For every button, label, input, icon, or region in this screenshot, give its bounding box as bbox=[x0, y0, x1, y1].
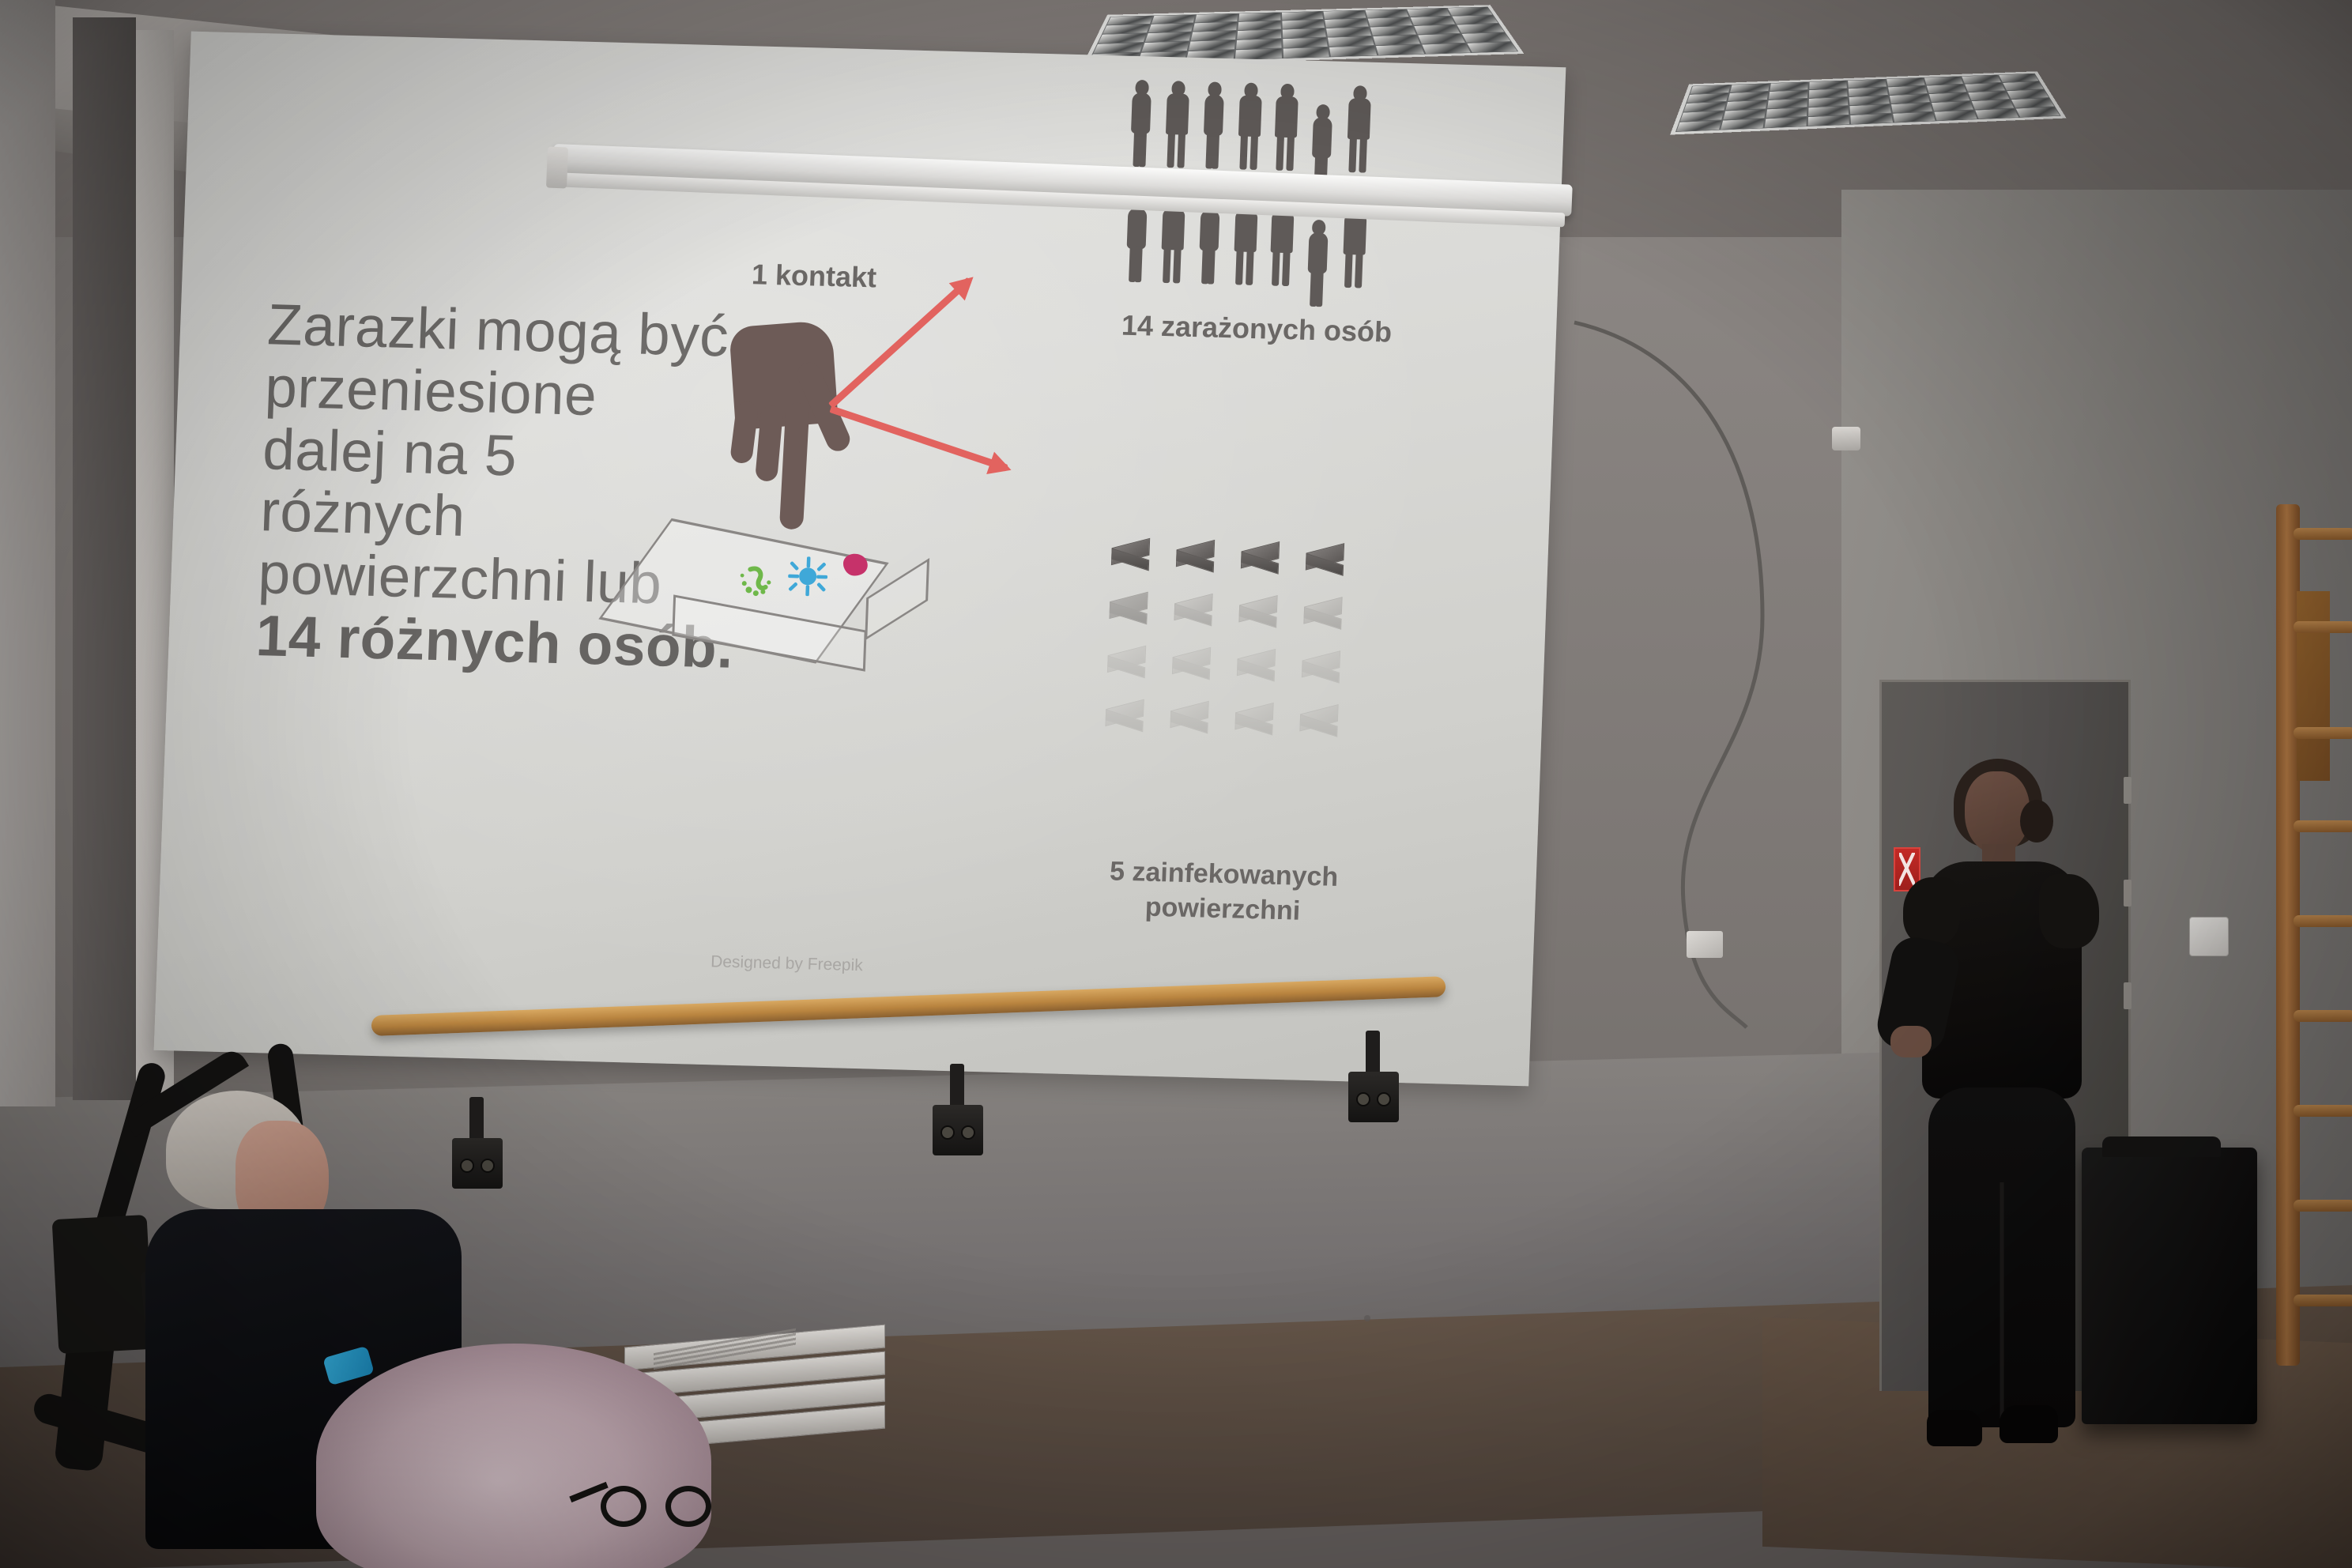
wall-sensor bbox=[1832, 427, 1860, 450]
light-switch[interactable] bbox=[2189, 917, 2229, 956]
wall-column-shadow bbox=[73, 17, 136, 1100]
presenter-legs bbox=[1928, 1087, 2075, 1427]
screen-bracket-left bbox=[546, 146, 568, 188]
person-icon bbox=[1271, 84, 1302, 183]
wall-mark bbox=[1364, 1315, 1370, 1321]
surface-icon-clock bbox=[1232, 586, 1292, 635]
wall-column-light bbox=[0, 0, 55, 1106]
presenter-shoulder-right bbox=[2039, 874, 2099, 948]
surface-icon-board bbox=[1234, 533, 1294, 582]
surface-icon-table bbox=[1167, 585, 1227, 634]
surface-icon-workstation bbox=[1163, 692, 1223, 741]
label-infected-people: 14 zarażonych osób bbox=[1121, 309, 1393, 349]
presenter-head bbox=[1965, 771, 2030, 854]
label-one-contact: 1 kontakt bbox=[751, 258, 877, 294]
label-surfaces-line2: powierzchni bbox=[1091, 888, 1354, 930]
person-icon bbox=[1162, 81, 1193, 179]
glasses-icon bbox=[601, 1478, 711, 1541]
presenter-hair-bun bbox=[2020, 800, 2053, 842]
surface-icon-plant bbox=[1165, 639, 1225, 688]
person-icon bbox=[1307, 104, 1337, 183]
surface-icon-podium bbox=[1293, 695, 1353, 744]
presenter-hand bbox=[1890, 1026, 1932, 1057]
label-surfaces-line1: 5 zainfekowanych bbox=[1093, 854, 1355, 895]
surface-icon-rail bbox=[1102, 583, 1163, 632]
surface-icon-grid bbox=[1099, 530, 1359, 744]
surface-icon-lamp bbox=[1228, 694, 1288, 743]
wall-socket-plate bbox=[1687, 931, 1723, 958]
hanging-cable bbox=[1565, 300, 1897, 1091]
presenter-shoulder-left bbox=[1903, 877, 1960, 945]
slide-credit: Designed by Freepik bbox=[710, 952, 863, 975]
person-icon bbox=[1344, 85, 1374, 184]
presenter bbox=[1881, 759, 2118, 1470]
label-infected-surfaces: 5 zainfekowanych powierzchni bbox=[1091, 854, 1355, 930]
surface-icon-cabinet bbox=[1169, 531, 1229, 580]
surface-icon-desk bbox=[1104, 530, 1164, 579]
person-icon bbox=[1198, 81, 1229, 180]
presenter-shoe-left bbox=[1927, 1410, 1982, 1446]
contaminated-surface-icon bbox=[665, 518, 971, 684]
person-icon bbox=[1302, 219, 1332, 298]
surface-icon-shelf bbox=[1230, 640, 1290, 689]
wall-bars bbox=[2276, 504, 2352, 1366]
presenter-shoe-right bbox=[2000, 1405, 2058, 1443]
germ-green-icon bbox=[738, 564, 782, 600]
surface-icon-desk-chair bbox=[1100, 637, 1160, 686]
surface-icon-office-chair bbox=[1298, 535, 1359, 584]
germ-pink-icon bbox=[839, 551, 873, 577]
photo-scene: Zarazki mogą być przeniesione dalej na 5… bbox=[0, 0, 2352, 1568]
surface-icon-rack bbox=[1295, 642, 1355, 691]
person-icon bbox=[1125, 80, 1156, 179]
person-icon bbox=[1234, 82, 1265, 181]
germ-blue-icon bbox=[787, 556, 828, 597]
surface-icon-sideboard bbox=[1297, 589, 1357, 638]
surface-icon-armchair bbox=[1099, 691, 1159, 740]
